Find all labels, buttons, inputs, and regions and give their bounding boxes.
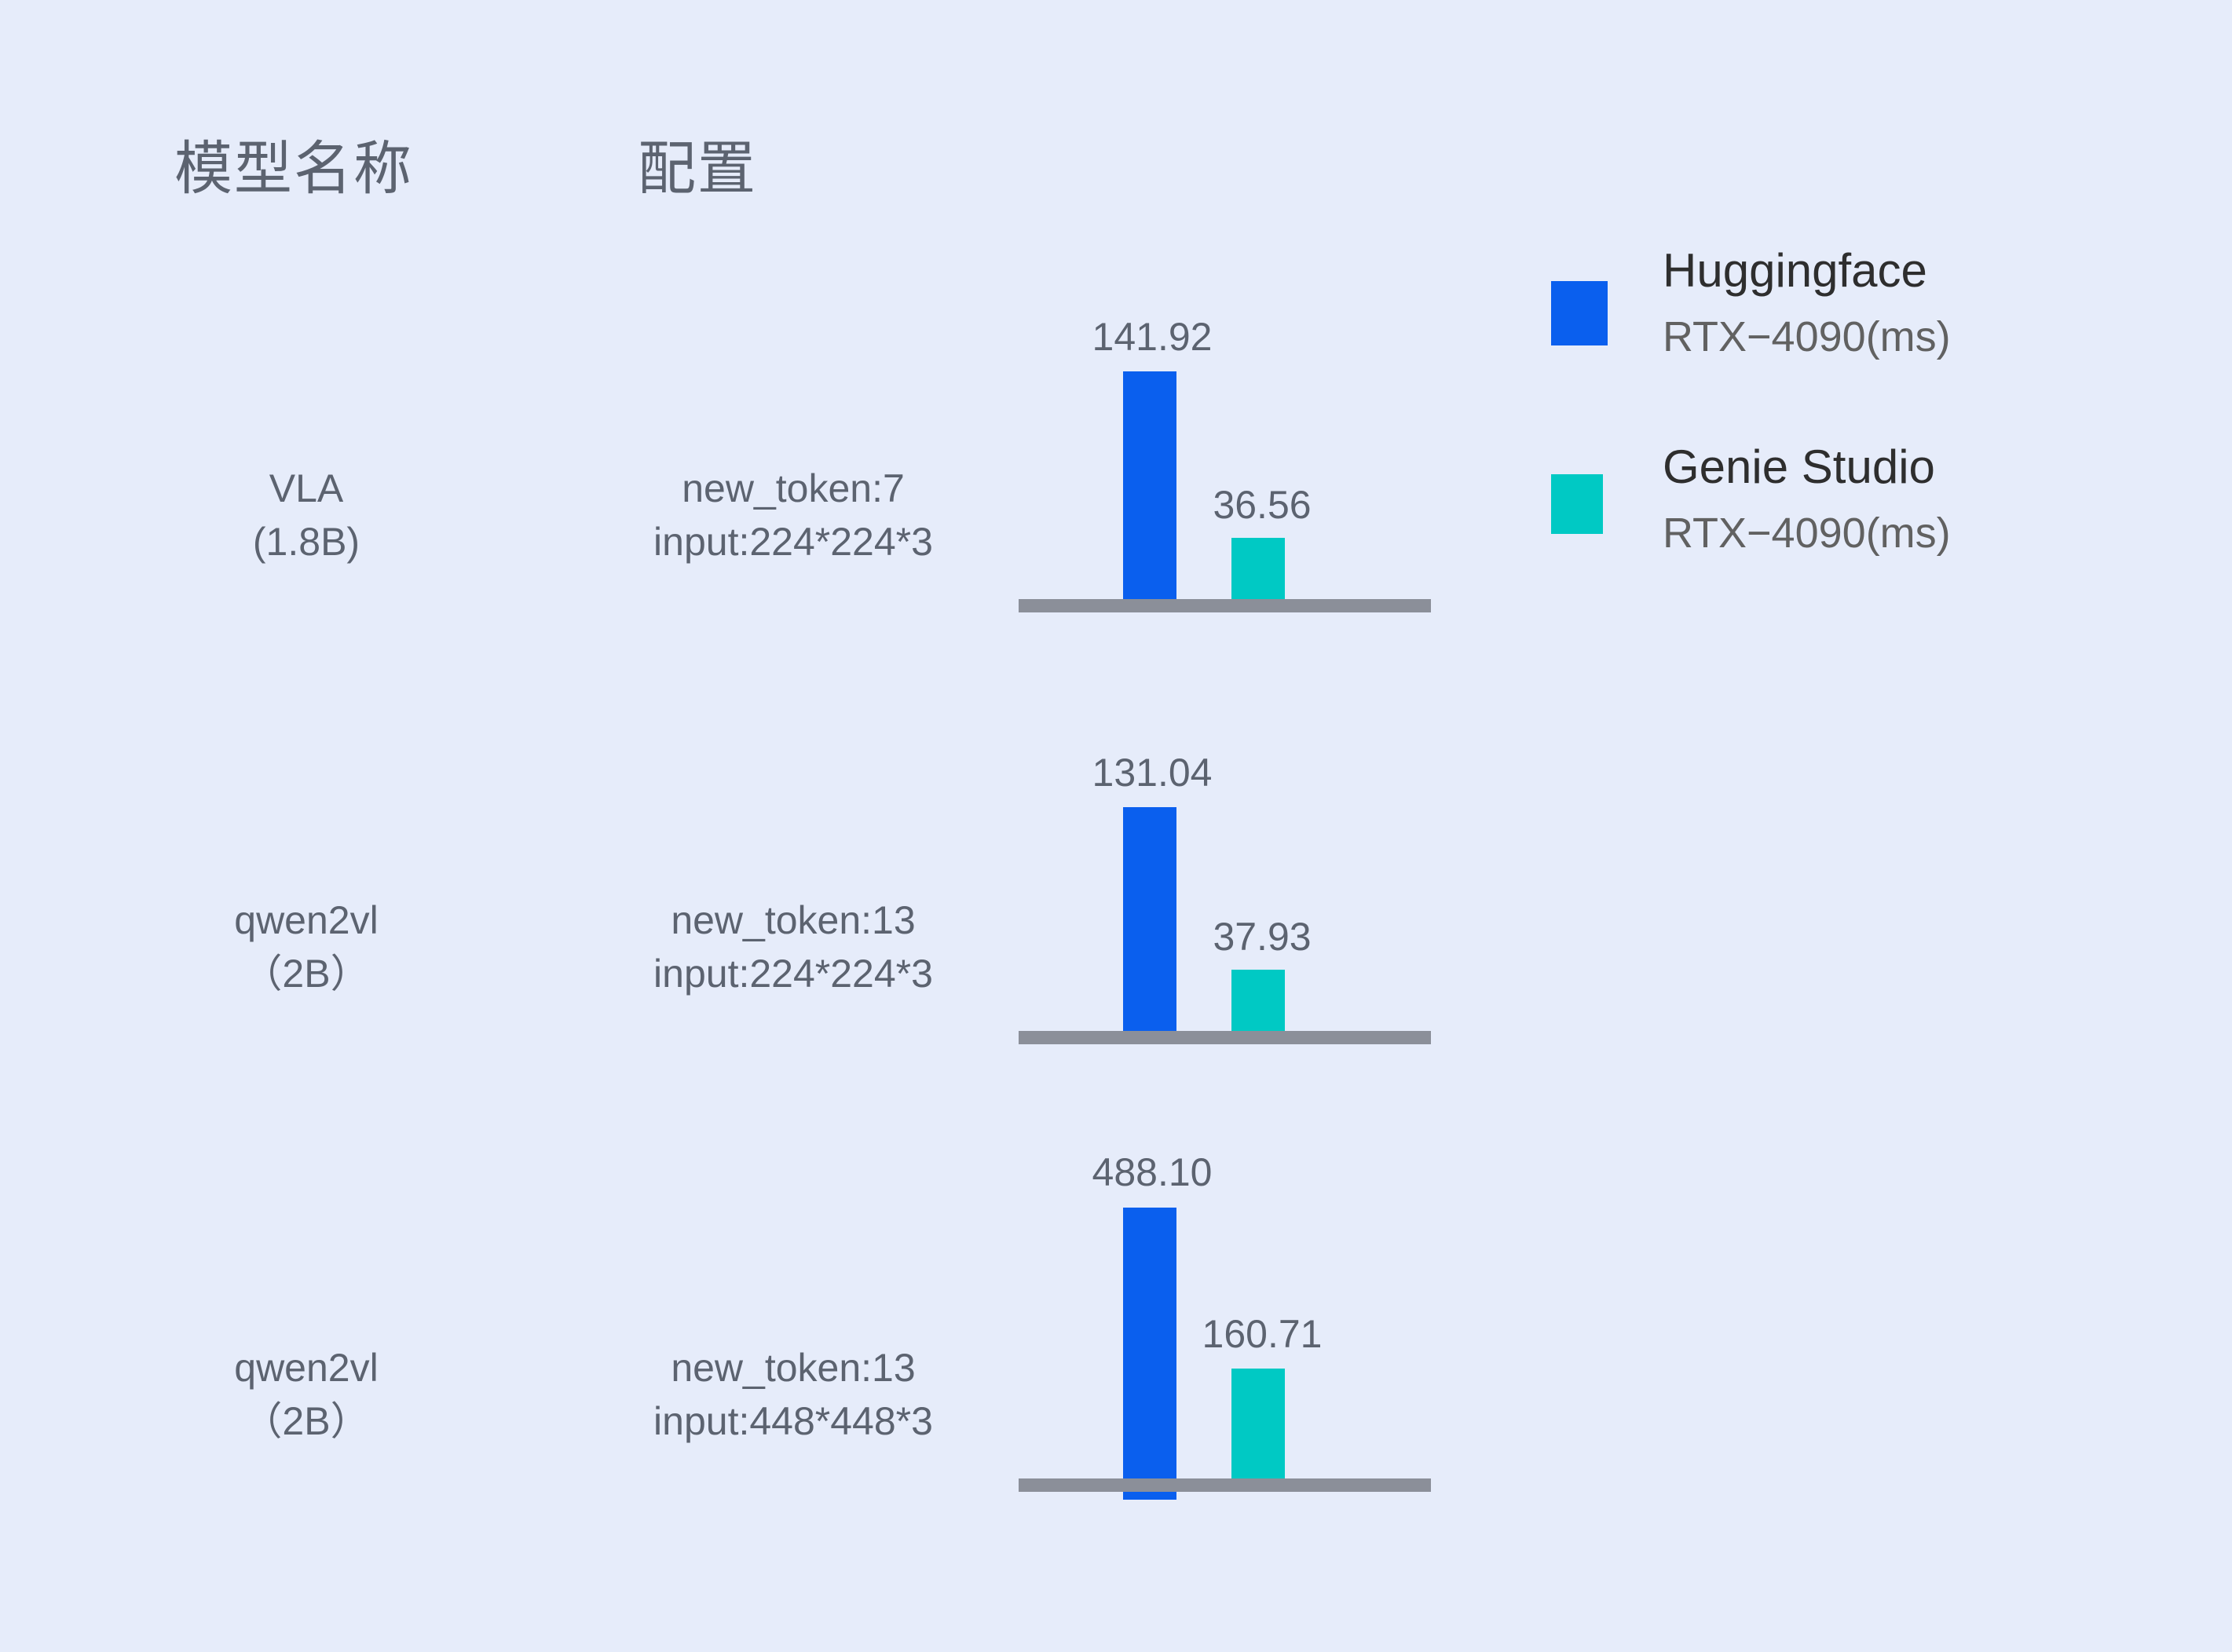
legend-item-genie-studio[interactable]: Genie Studio RTX−4090(ms) xyxy=(1551,440,2179,636)
bar-value-genie-studio: 37.93 xyxy=(1160,914,1364,959)
row-model-line2: （2B） xyxy=(141,1394,471,1448)
chart-row: qwen2vl （2B） new_token:13 input:224*224*… xyxy=(0,691,2232,1131)
bar-value-huggingface: 141.92 xyxy=(1050,314,1254,360)
row-config-label: new_token:13 input:448*448*3 xyxy=(479,1341,1107,1448)
header-model-name: 模型名称 xyxy=(174,122,413,206)
column-headers: 模型名称 配置 xyxy=(0,122,2232,216)
baseline-rule xyxy=(1019,599,1431,612)
row-config-line2: input:224*224*3 xyxy=(479,947,1107,1000)
baseline-rule xyxy=(1019,1031,1431,1044)
legend-item-huggingface[interactable]: Huggingface RTX−4090(ms) xyxy=(1551,243,2179,440)
bar-group: 488.10 160.71 xyxy=(1019,1138,1431,1578)
baseline-rule xyxy=(1019,1478,1431,1492)
row-model-line1: qwen2vl xyxy=(141,1341,471,1394)
row-config-line1: new_token:13 xyxy=(479,1341,1107,1394)
chart-row: qwen2vl （2B） new_token:13 input:448*448*… xyxy=(0,1138,2232,1578)
row-model-label: qwen2vl （2B） xyxy=(141,894,471,1000)
legend-subtitle: RTX−4090(ms) xyxy=(1663,312,1951,361)
row-model-line1: qwen2vl xyxy=(141,894,471,947)
bar-value-genie-studio: 160.71 xyxy=(1160,1311,1364,1357)
legend-swatch-icon xyxy=(1551,474,1603,534)
row-model-label: VLA (1.8B) xyxy=(141,462,471,568)
row-model-line1: VLA xyxy=(141,462,471,515)
row-model-label: qwen2vl （2B） xyxy=(141,1341,471,1448)
row-config-line2: input:448*448*3 xyxy=(479,1394,1107,1448)
legend-title: Huggingface xyxy=(1663,243,1927,298)
row-config-line1: new_token:13 xyxy=(479,894,1107,947)
bar-huggingface[interactable] xyxy=(1123,1208,1176,1500)
bar-genie-studio[interactable] xyxy=(1231,538,1285,599)
legend-title: Genie Studio xyxy=(1663,440,1935,494)
row-config-line1: new_token:7 xyxy=(479,462,1107,515)
bar-genie-studio[interactable] xyxy=(1231,1369,1285,1478)
legend-swatch-icon xyxy=(1551,281,1608,345)
chart-legend: Huggingface RTX−4090(ms) Genie Studio RT… xyxy=(1551,243,2179,636)
header-config: 配置 xyxy=(638,122,757,206)
bar-value-genie-studio: 36.56 xyxy=(1160,482,1364,528)
bar-genie-studio[interactable] xyxy=(1231,970,1285,1031)
bar-group: 131.04 37.93 xyxy=(1019,691,1431,1131)
row-model-line2: (1.8B) xyxy=(141,515,471,568)
bar-value-huggingface: 488.10 xyxy=(1050,1149,1254,1195)
row-config-label: new_token:7 input:224*224*3 xyxy=(479,462,1107,568)
row-config-line2: input:224*224*3 xyxy=(479,515,1107,568)
row-model-line2: （2B） xyxy=(141,947,471,1000)
bar-huggingface[interactable] xyxy=(1123,807,1176,1031)
row-config-label: new_token:13 input:224*224*3 xyxy=(479,894,1107,1000)
bar-value-huggingface: 131.04 xyxy=(1050,750,1254,795)
bar-huggingface[interactable] xyxy=(1123,371,1176,599)
bar-group: 141.92 36.56 xyxy=(1019,259,1431,699)
legend-subtitle: RTX−4090(ms) xyxy=(1663,509,1951,557)
